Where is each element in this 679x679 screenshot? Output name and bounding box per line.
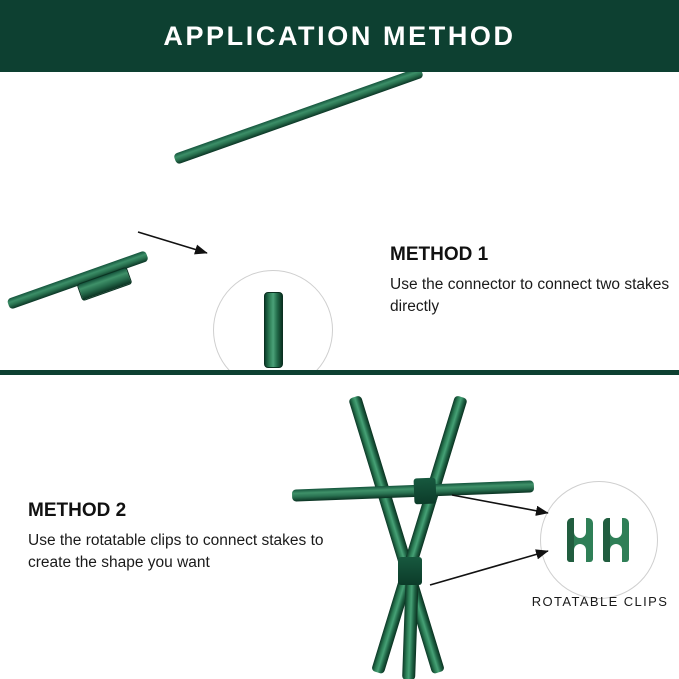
method-2-text-block: METHOD 2 Use the rotatable clips to conn…	[28, 500, 348, 574]
clip-on-cross-joint	[398, 557, 422, 585]
method-1-description: Use the connector to connect two stakes …	[390, 274, 679, 318]
method-1-title: METHOD 1	[390, 244, 679, 266]
method-1-text-block: METHOD 1 Use the connector to connect tw…	[390, 244, 679, 318]
stake-crossing-left-illustration	[348, 395, 445, 674]
rotatable-clip-left-illustration	[567, 518, 593, 562]
rotatable-clip-right-illustration	[603, 518, 629, 562]
stake-vertical-illustration	[402, 570, 419, 679]
connector-part-illustration	[264, 292, 283, 368]
method-2-description: Use the rotatable clips to connect stake…	[28, 530, 348, 574]
stake-upper-illustration	[173, 72, 424, 165]
connector-zoom-bubble	[213, 270, 333, 370]
clip-on-horizontal-bar	[414, 478, 437, 505]
page-title: APPLICATION METHOD	[163, 21, 515, 52]
rotatable-clips-caption: ROTATABLE CLIPS	[530, 594, 670, 609]
application-method-infographic: APPLICATION METHOD CONNECTOR METHOD 1 Us…	[0, 0, 679, 679]
method-2-panel: ROTATABLE CLIPS METHOD 2 Use the rotatab…	[0, 375, 679, 679]
rotatable-clips-zoom-bubble	[540, 481, 658, 599]
header-banner: APPLICATION METHOD	[0, 0, 679, 72]
method-1-panel: CONNECTOR METHOD 1 Use the connector to …	[0, 72, 679, 370]
method-2-title: METHOD 2	[28, 500, 348, 522]
